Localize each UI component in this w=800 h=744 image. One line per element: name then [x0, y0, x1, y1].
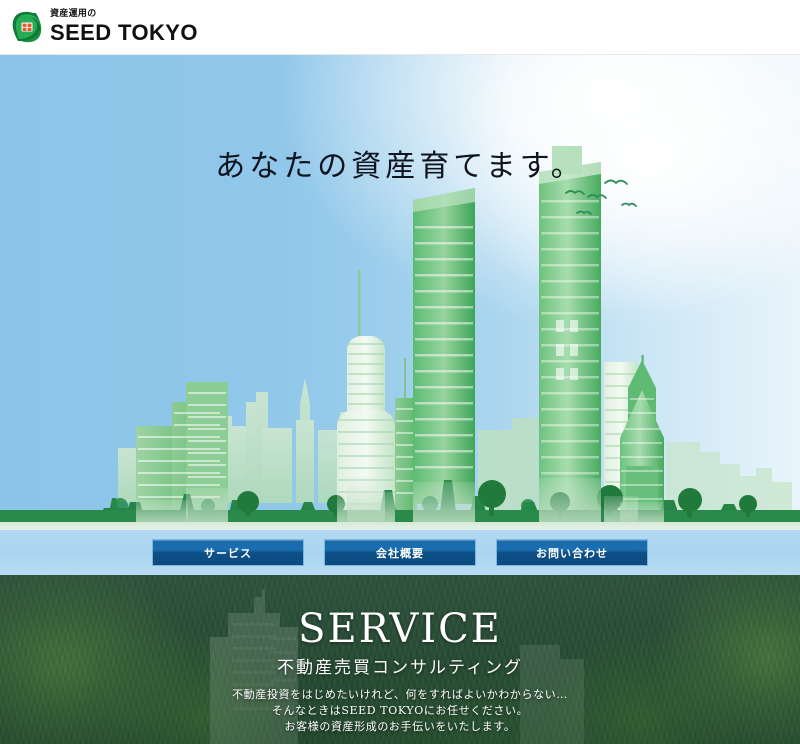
service-heading: SERVICE	[298, 607, 502, 651]
nav-button-company[interactable]: 会社概要	[324, 539, 476, 566]
logo-name: SEED TOKYO	[50, 20, 198, 45]
birds-icon	[560, 175, 670, 235]
seed-leaf-icon	[10, 9, 44, 45]
service-description-line-2: そんなときはSEED TOKYOにお任せください。	[232, 703, 568, 719]
hero-headline: あなたの資産育てます。	[0, 147, 800, 187]
service-section: SERVICE 不動産売買コンサルティング 不動産投資をはじめたいけれど、何をす…	[0, 575, 800, 744]
nav-button-contact[interactable]: お問い合わせ	[496, 539, 648, 566]
city-skyline-illustration	[0, 130, 800, 530]
service-description-line-1: 不動産投資をはじめたいけれど、何をすればよいかわからない…	[232, 687, 568, 703]
hero-section: あなたの資産育てます。	[0, 55, 800, 530]
service-description-line-3: お客様の資産形成のお手伝いをいたします。	[232, 719, 568, 735]
nav-button-service[interactable]: サービス	[152, 539, 304, 566]
primary-nav-bar: サービス 会社概要 お問い合わせ	[0, 530, 800, 575]
site-header: 資産運用の SEED TOKYO	[0, 0, 800, 55]
service-description: 不動産投資をはじめたいけれど、何をすればよいかわからない… そんなときはSEED…	[232, 687, 568, 735]
site-logo[interactable]: 資産運用の SEED TOKYO	[10, 9, 198, 45]
service-subheading: 不動産売買コンサルティング	[277, 657, 523, 679]
logo-kicker: 資産運用の	[50, 9, 198, 20]
